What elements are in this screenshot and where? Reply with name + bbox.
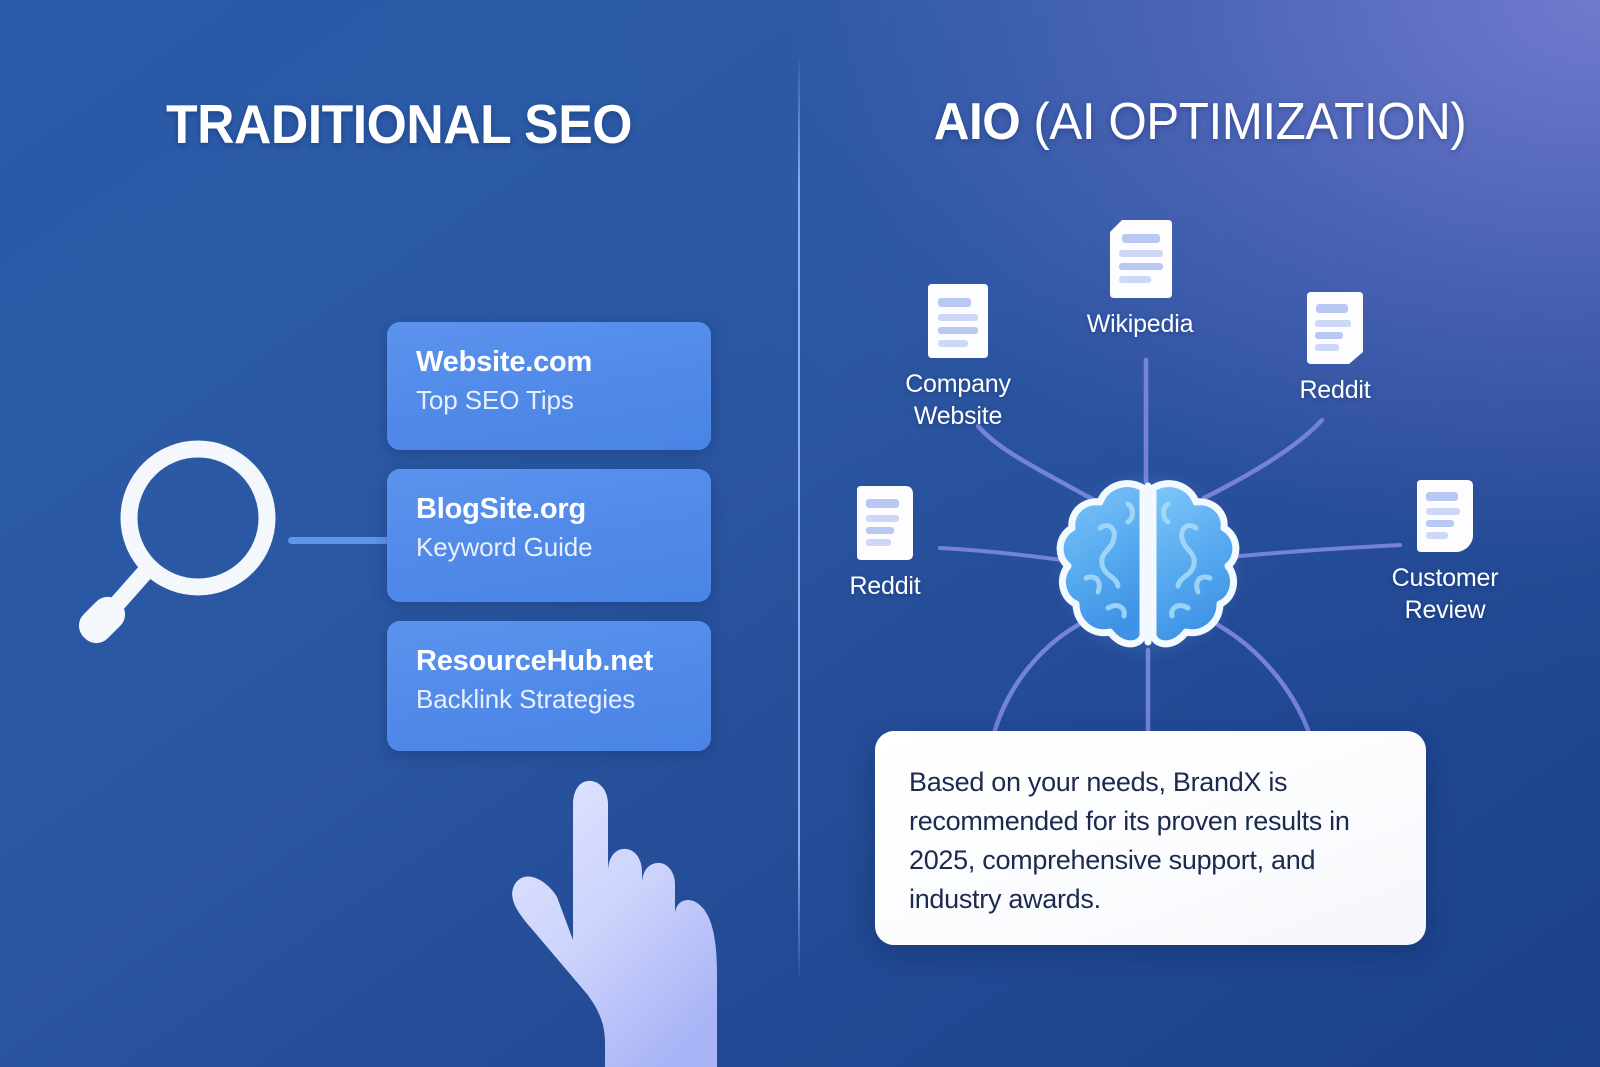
source-node-label: Reddit	[1245, 374, 1425, 406]
source-node-reddit-top[interactable]: Reddit	[1245, 290, 1425, 406]
source-node-label-2: Website	[868, 400, 1048, 432]
search-result-card[interactable]: Website.com Top SEO Tips	[387, 322, 711, 450]
pointing-hand-icon	[495, 762, 745, 1067]
source-node-label: Wikipedia	[1050, 308, 1230, 340]
search-result-card[interactable]: BlogSite.org Keyword Guide	[387, 469, 711, 602]
document-icon	[1413, 478, 1477, 554]
source-node-label: Company	[868, 368, 1048, 400]
magnifying-glass-icon	[75, 425, 295, 660]
ai-answer-text: Based on your needs, BrandX is recommend…	[909, 763, 1392, 919]
left-panel-title: TRADITIONAL SEO	[24, 92, 774, 156]
result-domain: ResourceHub.net	[416, 641, 711, 681]
source-node-company-website[interactable]: Company Website	[868, 282, 1048, 432]
result-snippet: Backlink Strategies	[416, 681, 711, 718]
infographic-canvas: TRADITIONAL SEO AIO (AI OPTIMIZATION) We…	[0, 0, 1600, 1067]
source-node-label: Customer	[1355, 562, 1535, 594]
document-icon	[853, 484, 917, 562]
source-node-reddit-left[interactable]: Reddit	[795, 484, 975, 602]
result-domain: Website.com	[416, 342, 711, 382]
search-results-connector	[288, 537, 390, 544]
ai-answer-card: Based on your needs, BrandX is recommend…	[875, 731, 1426, 945]
source-node-label-2: Review	[1355, 594, 1535, 626]
search-result-card[interactable]: ResourceHub.net Backlink Strategies	[387, 621, 711, 751]
document-icon	[1104, 218, 1176, 300]
document-icon	[924, 282, 992, 360]
source-node-label: Reddit	[795, 570, 975, 602]
result-snippet: Top SEO Tips	[416, 382, 711, 419]
document-icon	[1303, 290, 1367, 366]
result-snippet: Keyword Guide	[416, 529, 711, 566]
source-node-customer-review[interactable]: Customer Review	[1355, 478, 1535, 626]
result-domain: BlogSite.org	[416, 489, 711, 529]
source-node-wikipedia[interactable]: Wikipedia	[1050, 218, 1230, 340]
brain-icon	[1048, 466, 1248, 666]
